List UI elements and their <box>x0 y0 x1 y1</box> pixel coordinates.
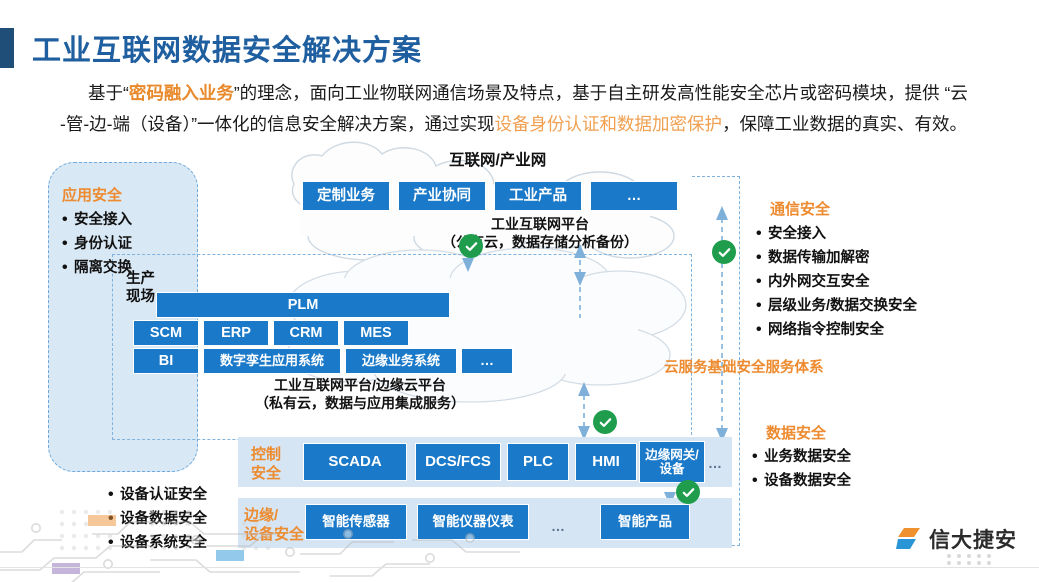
control-security-line2: 安全 <box>251 464 281 483</box>
private-platform-line1: 工业互联网平台/边缘云平台 <box>200 377 520 395</box>
intro-line2-b: ，保障工业数据的真实、有效。 <box>722 114 967 134</box>
intro-line1-a: 基于“ <box>88 83 129 103</box>
bullet-dot: • <box>756 294 768 317</box>
comm-security-item-4: 网络指令控制安全 <box>768 319 884 342</box>
intro-line1-b: ”的理念，面向工业物联网通信场景及特点，基于自主研发高性能安全芯片或密码模块，提… <box>234 83 968 103</box>
private-platform-line2: （私有云，数据与应用集成服务） <box>200 395 520 413</box>
list-item: •网络指令控制安全 <box>756 318 917 342</box>
list-item: •设备系统安全 <box>108 531 207 555</box>
slide-root: 工业互联网数据安全解决方案 基于“密码融入业务”的理念，面向工业物联网通信场景及… <box>0 0 1039 582</box>
comm-security-item-3: 层级业务/数据交换安全 <box>768 295 917 318</box>
bullet-dot: • <box>756 270 768 293</box>
app-security-list: •安全接入 •身份认证 •隔离交换 <box>62 208 132 280</box>
list-item: •层级业务/数据交换安全 <box>756 294 917 318</box>
bullet-dot: • <box>62 208 74 231</box>
device-security-list: •设备认证安全 •设备数据安全 •设备系统安全 <box>108 483 207 555</box>
internet-cloud-label: 互联网/产业网 <box>449 148 546 170</box>
chip-bi[interactable]: BI <box>133 348 199 374</box>
app-security-title: 应用安全 <box>62 184 122 205</box>
data-security-item-0: 业务数据安全 <box>764 446 851 469</box>
device-security-item-0: 设备认证安全 <box>120 484 207 507</box>
intro-line2-a: -管-边-端（设备）”一体化的信息安全解决方案，通过实现 <box>60 114 495 134</box>
public-platform-line2: （公有云，数据存储分析备份） <box>370 234 710 252</box>
comm-security-item-1: 数据传输加解密 <box>768 247 870 270</box>
chip-plm[interactable]: PLM <box>156 292 450 318</box>
edge-security-line1: 边缘/ <box>244 506 304 525</box>
check-badge-public-cloud <box>459 234 483 258</box>
bullet-dot: • <box>756 222 768 245</box>
architecture-diagram: 互联网/产业网 定制业务 产业协同 工业产品 … 工业互联网平台 （公有云，数据… <box>0 140 1039 582</box>
bullet-dot: • <box>108 507 120 530</box>
chip-dcs-fcs[interactable]: DCS/FCS <box>415 443 501 481</box>
check-badge-communication <box>712 240 736 264</box>
chip-smart-instrument[interactable]: 智能仪器仪表 <box>417 504 529 540</box>
logo-mark-icon <box>896 527 922 551</box>
list-item: •安全接入 <box>756 222 917 246</box>
chip-industry-collaboration[interactable]: 产业协同 <box>398 181 486 211</box>
chip-crm[interactable]: CRM <box>273 320 339 346</box>
control-security-line1: 控制 <box>251 445 281 464</box>
data-security-title: 数据安全 <box>766 422 826 443</box>
chip-smart-sensor[interactable]: 智能传感器 <box>305 504 407 540</box>
title-accent-bar <box>0 28 14 68</box>
app-security-item-2: 隔离交换 <box>74 257 132 280</box>
check-badge-edge-device <box>676 480 700 504</box>
list-item: •隔离交换 <box>62 256 132 280</box>
data-security-item-1: 设备数据安全 <box>764 470 851 493</box>
bullet-dot: • <box>756 318 768 341</box>
comm-security-list: •安全接入 •数据传输加解密 •内外网交互安全 •层级业务/数据交换安全 •网络… <box>756 222 917 342</box>
control-security-label: 控制 安全 <box>251 445 281 483</box>
list-item: •安全接入 <box>62 208 132 232</box>
list-item: •数据传输加解密 <box>756 246 917 270</box>
intro-paragraph: 基于“密码融入业务”的理念，面向工业物联网通信场景及特点，基于自主研发高性能安全… <box>60 78 990 140</box>
chip-erp[interactable]: ERP <box>203 320 269 346</box>
bullet-dot: • <box>752 469 764 492</box>
data-security-list: •业务数据安全 •设备数据安全 <box>752 445 851 493</box>
intro-highlight-1: 密码融入业务 <box>129 83 234 103</box>
list-item: •设备认证安全 <box>108 483 207 507</box>
logo-dot-decoration <box>945 552 1017 566</box>
list-item: •内外网交互安全 <box>756 270 917 294</box>
chip-plc[interactable]: PLC <box>507 443 569 481</box>
page-title: 工业互联网数据安全解决方案 <box>32 27 422 69</box>
comm-security-item-2: 内外网交互安全 <box>768 271 870 294</box>
list-item: •设备数据安全 <box>108 507 207 531</box>
chip-industrial-product[interactable]: 工业产品 <box>494 181 582 211</box>
cloud-service-system-label: 云服务基础安全服务体系 <box>664 356 824 377</box>
comm-security-item-0: 安全接入 <box>768 223 826 246</box>
chip-mid-more[interactable]: … <box>461 348 513 374</box>
bullet-dot: • <box>108 483 120 506</box>
check-badge-private-cloud <box>593 410 617 434</box>
comm-security-title: 通信安全 <box>770 198 830 219</box>
bullet-dot: • <box>756 246 768 269</box>
chip-smart-product[interactable]: 智能产品 <box>600 504 690 540</box>
chip-edge-gateway-device[interactable]: 边缘网关/ 设备 <box>639 441 705 483</box>
chip-top-more[interactable]: … <box>590 181 678 211</box>
list-item: •业务数据安全 <box>752 445 851 469</box>
device-security-item-2: 设备系统安全 <box>120 532 207 555</box>
chip-scada[interactable]: SCADA <box>303 443 407 481</box>
app-security-item-0: 安全接入 <box>74 209 132 232</box>
edge-security-label: 边缘/ 设备安全 <box>244 506 304 544</box>
private-platform-caption: 工业互联网平台/边缘云平台 （私有云，数据与应用集成服务） <box>200 377 520 413</box>
chip-digital-twin-system[interactable]: 数字孪生应用系统 <box>203 348 341 374</box>
chip-custom-business[interactable]: 定制业务 <box>302 181 390 211</box>
list-item: •设备数据安全 <box>752 469 851 493</box>
edge-security-line2: 设备安全 <box>244 525 304 544</box>
brand-logo: 信大捷安 <box>896 524 1017 554</box>
chip-mes[interactable]: MES <box>343 320 409 346</box>
intro-highlight-2: 设备身份认证和数据加密保护 <box>495 114 723 134</box>
app-security-item-1: 身份认证 <box>74 233 132 256</box>
public-platform-line1: 工业互联网平台 <box>370 216 710 234</box>
list-item: •身份认证 <box>62 232 132 256</box>
logo-text: 信大捷安 <box>929 524 1017 554</box>
device-security-item-1: 设备数据安全 <box>120 508 207 531</box>
bullet-dot: • <box>108 531 120 554</box>
bottom-divider <box>0 567 1039 568</box>
chip-scm[interactable]: SCM <box>133 320 199 346</box>
edge-row-ellipsis: … <box>551 518 565 534</box>
bullet-dot: • <box>62 256 74 279</box>
control-row-ellipsis: … <box>708 455 722 471</box>
bullet-dot: • <box>62 232 74 255</box>
bullet-dot: • <box>752 445 764 468</box>
chip-hmi[interactable]: HMI <box>575 443 637 481</box>
production-site-line2: 现场 <box>126 288 155 306</box>
chip-edge-business-system[interactable]: 边缘业务系统 <box>345 348 457 374</box>
public-platform-caption: 工业互联网平台 （公有云，数据存储分析备份） <box>370 216 710 252</box>
